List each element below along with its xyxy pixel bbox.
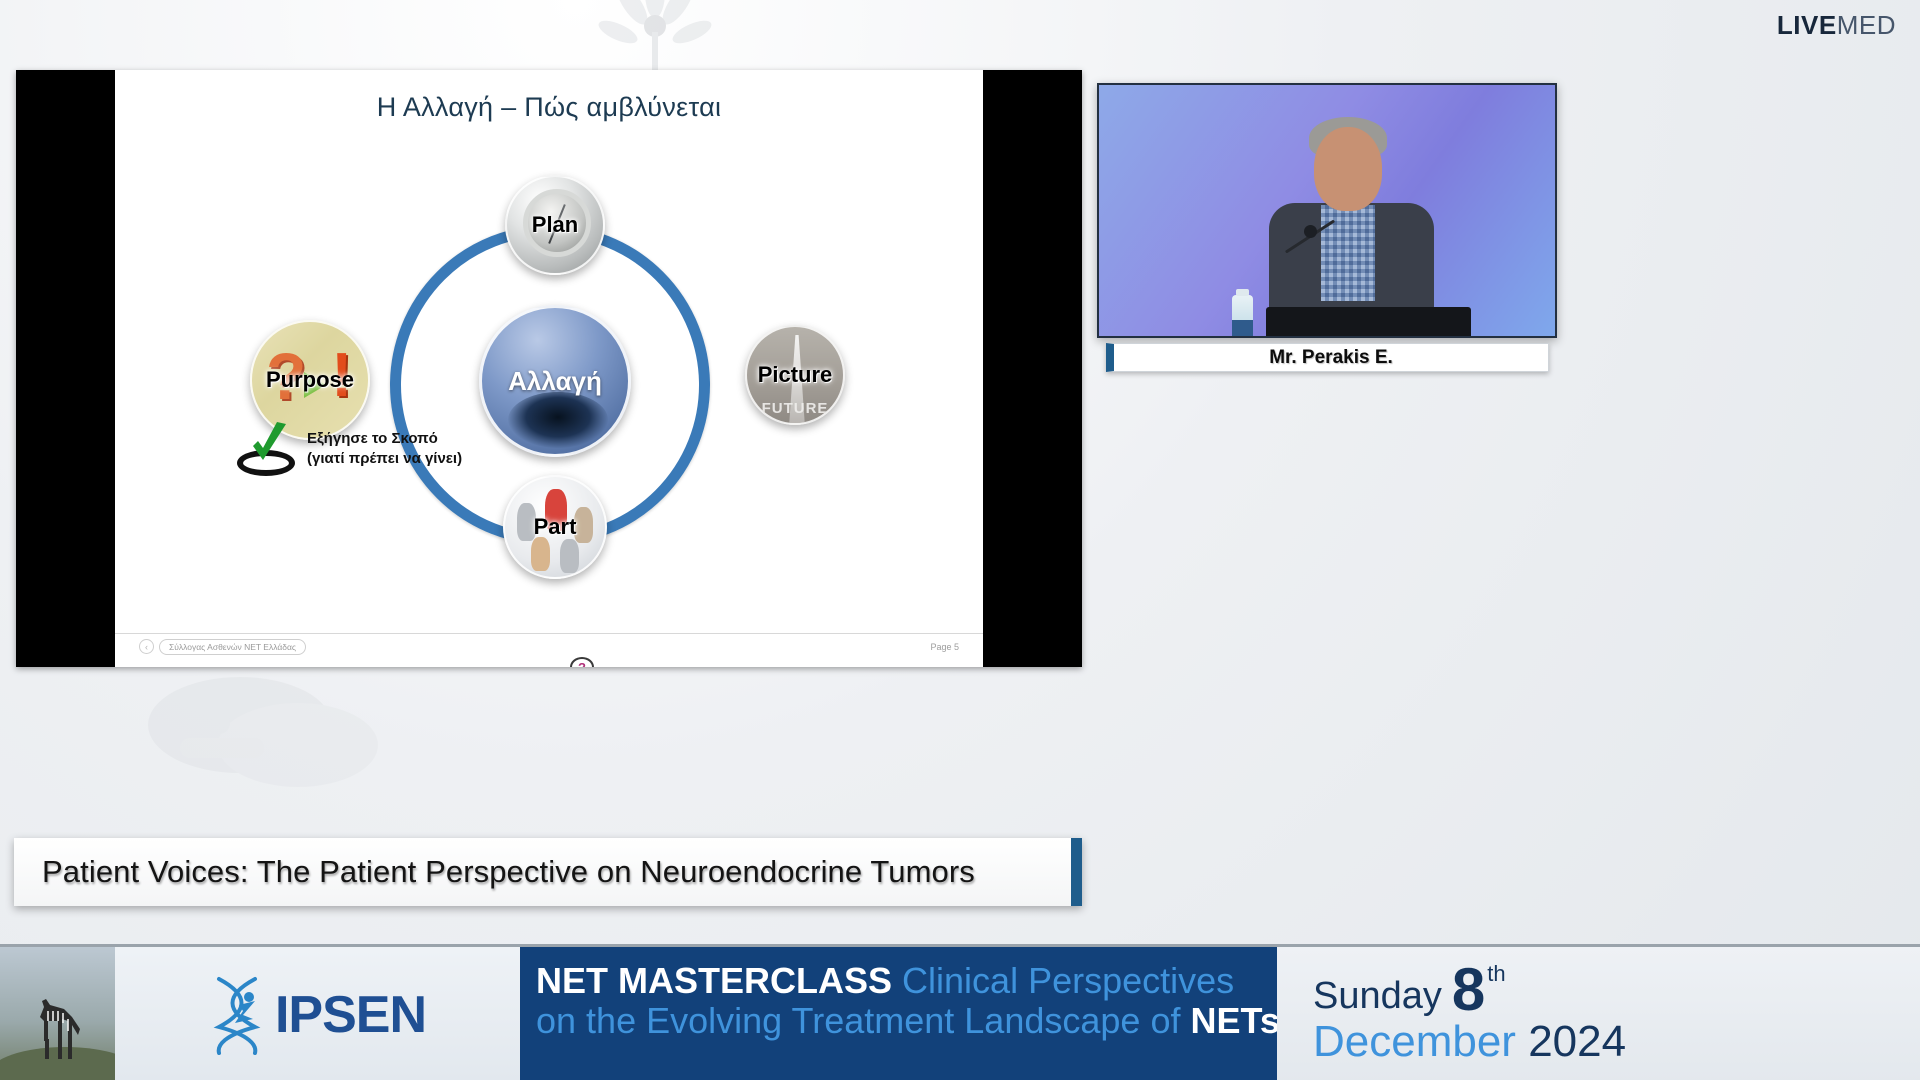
laptop-icon (1266, 307, 1471, 338)
annotation-purpose-line2: (γιατί πρέπει να γίνει) (307, 449, 462, 469)
change-cycle-diagram: Plan ? ! Purpose Picture FUTURE (245, 175, 885, 610)
bottle-cap-shape (1236, 289, 1249, 296)
future-overlay-text: FUTURE (747, 400, 843, 417)
prev-slide-icon[interactable]: ‹ (139, 639, 154, 654)
event-of-text: of (1150, 1000, 1180, 1041)
annotation-purpose-line1: Εξήγησε το Σκοπό (307, 429, 462, 449)
slide-footer: ‹ Σύλλογας Ασθενών ΝΕΤ Ελλάδας Page 5 (115, 633, 983, 659)
ipsen-helix-icon (209, 975, 267, 1055)
slide-viewer[interactable]: Η Αλλαγή – Πώς αμβλύνεται Plan ? ! Purpo… (16, 70, 1082, 667)
event-nets-text: NETs (1190, 1000, 1279, 1041)
diagram-node-part: Part (503, 475, 607, 579)
event-title-block: NET MASTERCLASS Clinical Perspectives on… (520, 947, 1277, 1080)
diagram-node-plan-label: Plan (532, 212, 578, 238)
event-month: December (1313, 1017, 1516, 1066)
bottle-label-shape (1232, 320, 1253, 336)
brand-med-text: MED (1837, 10, 1896, 40)
diagram-node-picture-label: Picture (758, 362, 833, 388)
talk-title: Patient Voices: The Patient Perspective … (42, 854, 975, 890)
diagram-node-part-label: Part (534, 514, 577, 540)
event-date-block: Sunday 8 th December 2024 (1277, 947, 1920, 1080)
slide-title: Η Αλλαγή – Πώς αμβλύνεται (115, 92, 983, 123)
annotation-purpose-text: Εξήγησε το Σκοπό (γιατί πρέπει να γίνει) (307, 429, 462, 470)
zebra-icon (28, 991, 84, 1065)
ipsen-logo: IPSEN (115, 947, 520, 1080)
zebra-photo (0, 947, 115, 1080)
speaker-name: Mr. Perakis E. (1269, 347, 1393, 369)
speaker-video[interactable] (1097, 83, 1557, 338)
check-tick-shape (249, 422, 289, 466)
annotation-part-text: Ενέπλεξε ως Μέρος (τι ρόλο θα παίξω) (626, 666, 766, 667)
event-title-line1: NET MASTERCLASS Clinical Perspectives (536, 961, 1277, 1001)
livemed-logo: LIVEMED (1777, 12, 1896, 38)
person-icon (531, 537, 550, 571)
water-ripple-icon (508, 392, 608, 448)
talk-title-banner: Patient Voices: The Patient Perspective … (14, 838, 1082, 906)
sponsor-bar: IPSEN NET MASTERCLASS Clinical Perspecti… (0, 944, 1920, 1080)
flower-watermark-icon (560, 0, 750, 80)
event-day-number: 8 (1452, 964, 1485, 1015)
slide-canvas: Η Αλλαγή – Πώς αμβλύνεται Plan ? ! Purpo… (115, 70, 983, 667)
diagram-node-plan: Plan (505, 175, 605, 275)
person-icon (574, 507, 593, 543)
green-check-icon (235, 420, 297, 478)
microphone-head-icon (1304, 225, 1317, 238)
event-weekday: Sunday (1313, 977, 1442, 1015)
speaker-shirt (1321, 205, 1375, 301)
brand-live-text: LIVE (1777, 10, 1837, 40)
speaker-name-plate: Mr. Perakis E. (1106, 343, 1549, 372)
event-date-line1: Sunday 8 th (1313, 964, 1514, 1015)
water-bottle-icon (1232, 295, 1253, 338)
event-on-the-text: on the (536, 1000, 636, 1041)
event-masterclass-text: NET MASTERCLASS (536, 960, 892, 1001)
annotation-purpose: Εξήγησε το Σκοπό (γιατί πρέπει να γίνει) (235, 420, 462, 478)
event-day-ordinal: th (1487, 963, 1505, 985)
person-icon (560, 539, 579, 573)
diagram-center-label: Αλλαγή (508, 366, 602, 397)
diagram-node-picture: Picture FUTURE (745, 325, 845, 425)
slide-footer-org: Σύλλογας Ασθενών ΝΕΤ Ελλάδας (159, 639, 306, 655)
speaker-head (1314, 127, 1382, 211)
diagram-node-purpose-label: Purpose (266, 367, 354, 393)
slide-page-number: Page 5 (930, 642, 959, 652)
annotation-part-line1: Ενέπλεξε ως Μέρος (626, 666, 766, 667)
event-clinical-perspectives-text: Clinical Perspectives (902, 960, 1234, 1001)
event-title-line2: on the Evolving Treatment Landscape of N… (536, 1001, 1277, 1041)
slide-footer-left: ‹ Σύλλογας Ασθενών ΝΕΤ Ελλάδας (139, 639, 306, 655)
event-treatment-landscape-text: Treatment Landscape (792, 1000, 1141, 1041)
diagram-center-change: Αλλαγή (479, 305, 631, 457)
webinar-player-page: LIVEMED Η Αλλαγή – Πώς αμβλύνεται Plan ?… (0, 0, 1920, 1080)
event-year: 2024 (1528, 1017, 1626, 1066)
event-date-line2: December 2024 (1313, 1019, 1626, 1065)
event-evolving-text: Evolving (646, 1000, 782, 1041)
ipsen-wordmark: IPSEN (275, 985, 426, 1045)
